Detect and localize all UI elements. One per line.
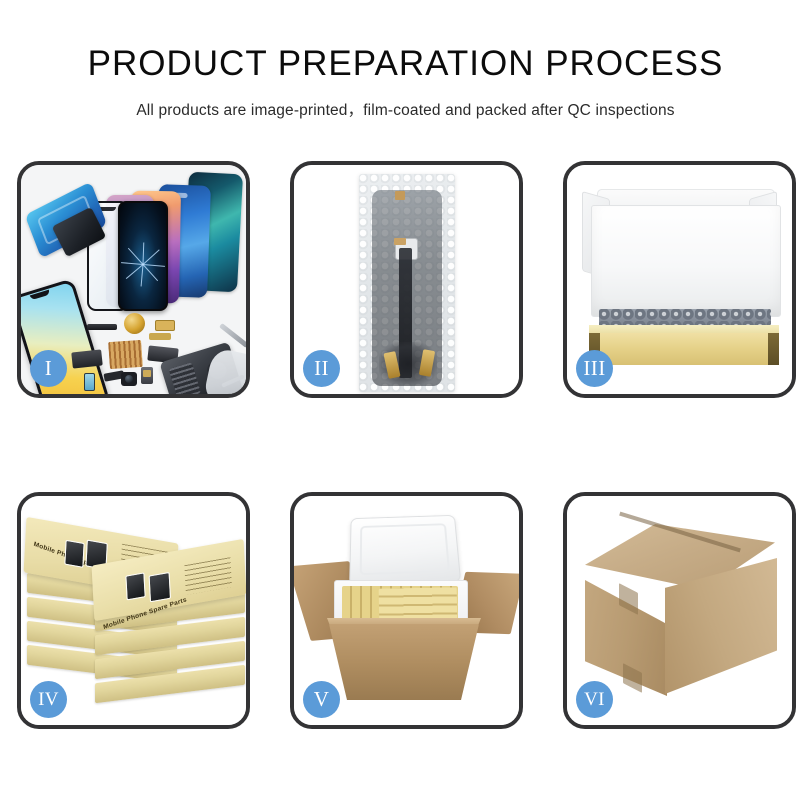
part-screw-tray [108, 340, 143, 369]
box-print-thumb-lower-2 [149, 572, 171, 602]
tape-tab-mid [394, 238, 406, 245]
box-lid-panel [591, 205, 781, 317]
step-card-v[interactable]: V [290, 492, 523, 729]
part-camera-module [121, 372, 137, 386]
page-header: PRODUCT PREPARATION PROCESS All products… [0, 0, 811, 120]
process-steps-row-1: I II [17, 161, 796, 398]
step-card-i[interactable]: I [17, 161, 250, 398]
part-flex-cable-left [71, 349, 103, 368]
step-badge-iii: III [576, 350, 613, 387]
foam-lid [349, 515, 461, 586]
step-badge-ii: II [303, 350, 340, 387]
step-badge-i: I [30, 350, 67, 387]
part-gold-connector [155, 320, 175, 331]
step-card-iii[interactable]: III [563, 161, 796, 398]
box-print-thumb-upper-1 [64, 540, 84, 568]
box-print-spec-lower [184, 557, 232, 595]
part-earpiece-mesh [87, 324, 117, 330]
part-vibration-motor [124, 313, 145, 334]
step-card-ii[interactable]: II [290, 161, 523, 398]
bubble-wrap-sleeve [359, 174, 455, 392]
page-subtitle: All products are image-printed，film-coat… [0, 98, 811, 120]
step-badge-v: V [303, 681, 340, 718]
box-front-face [589, 333, 779, 365]
part-sim-tray [141, 367, 153, 384]
page-title: PRODUCT PREPARATION PROCESS [0, 46, 811, 81]
process-steps-grid: I II [17, 161, 796, 729]
process-steps-row-2: Mobile Phone Spare Parts Mobile Phone Sp… [17, 492, 796, 729]
carton-front-face [329, 624, 479, 700]
step-card-vi[interactable]: VI [563, 492, 796, 729]
step-badge-vi: VI [576, 681, 613, 718]
part-button [84, 373, 95, 391]
step-card-iv[interactable]: Mobile Phone Spare Parts Mobile Phone Sp… [17, 492, 250, 729]
step-badge-iv: IV [30, 681, 67, 718]
tape-tab-top [395, 191, 405, 200]
part-gold-connector-2 [149, 333, 171, 340]
box-print-thumb-lower-1 [125, 572, 145, 600]
phone-cracked-screen [118, 201, 168, 311]
